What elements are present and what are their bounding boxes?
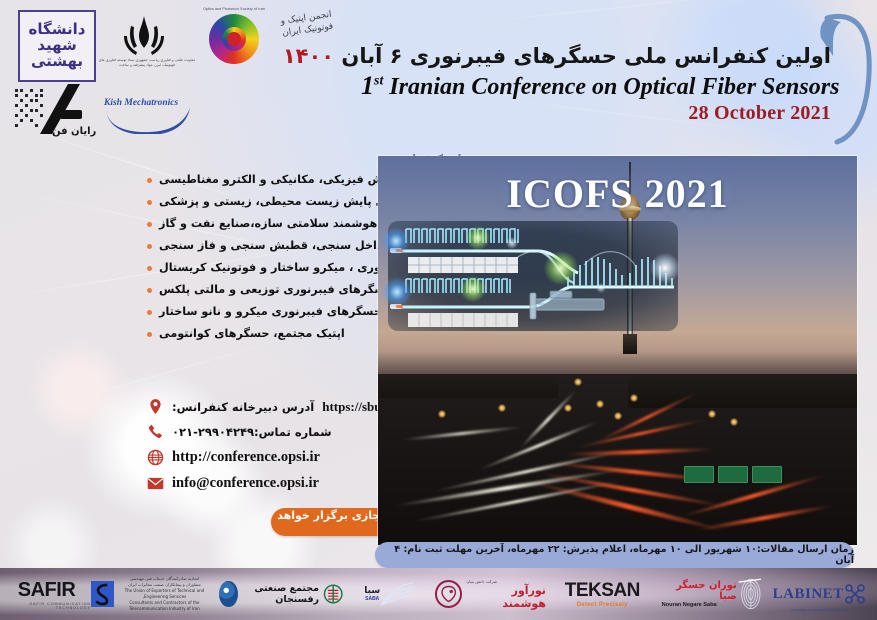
- street-lamp: [574, 378, 582, 386]
- shahid-beheshti-university-logo: دانشگاهشهیدبهشتی: [18, 10, 96, 82]
- saba-english-name: SABA: [365, 596, 379, 602]
- title-date: 28 October 2021: [361, 102, 831, 125]
- sponsor-telecom-union: اتحادیه صادرکنندگان خدمات فنی مهندسی مشا…: [114, 574, 237, 614]
- road-sign: [718, 466, 748, 483]
- conference-title-block: اولین کنفرانس ملی حسگرهای فیبرنوری ۶ آبا…: [361, 44, 831, 125]
- safir-subtitle: SAFIR COMMUNICATION TECHNOLOGY: [2, 602, 91, 610]
- bullet-icon: [147, 310, 152, 315]
- title-persian: اولین کنفرانس ملی حسگرهای فیبرنوری ۶ آبا…: [361, 44, 831, 69]
- title-ordinal-number: 1: [361, 71, 374, 100]
- conference-poster: دانشگاهشهیدبهشتی معاونت علمی و فناوری ری…: [0, 0, 877, 620]
- road-sign: [752, 466, 782, 483]
- sponsor-safir: SAFIR SAFIR COMMUNICATION TECHNOLOGY: [0, 574, 114, 614]
- teksan-wordmark: TEKSAN: [565, 580, 640, 602]
- title-ordinal: 1st: [361, 71, 383, 100]
- hillside: [378, 374, 558, 398]
- phone-icon: [147, 423, 164, 440]
- envelope-icon: [147, 475, 164, 492]
- title-persian-year: ۱۴۰۰: [283, 44, 334, 68]
- safir-mark-icon: [91, 581, 114, 607]
- bullet-icon: [147, 332, 152, 337]
- street-lamp: [630, 394, 638, 402]
- title-english-line: 1st Iranian Conference on Optical Fiber …: [361, 71, 831, 101]
- address-label: آدرس دبیرخانه کنفرانس:: [172, 400, 314, 414]
- street-lamp: [730, 418, 738, 426]
- title-persian-text: اولین کنفرانس ملی حسگرهای فیبرنوری ۶ آبا…: [341, 44, 831, 68]
- light-trail-red: [564, 447, 714, 456]
- bullet-icon: [147, 178, 152, 183]
- important-dates-banner: زمان ارسال مقالات:۱۰ شهریور الی ۱۰ مهرما…: [375, 542, 854, 568]
- sbu-calligraphy-text: دانشگاهشهیدبهشتی: [29, 22, 86, 69]
- kish-swoosh-icon: [102, 106, 194, 134]
- bullet-icon: [147, 200, 152, 205]
- bullet-icon: [147, 266, 152, 271]
- street-lamp: [708, 410, 716, 418]
- bullet-icon: [147, 244, 152, 249]
- nouran-english-name: Nouran Negare Saba: [662, 602, 717, 608]
- street-lamp: [564, 404, 572, 412]
- sponsor-labinet: LABINET Laboratory & Industrial Sales Ne…: [764, 574, 877, 614]
- street-lamp: [498, 404, 506, 412]
- teksan-tagline: Detect Precisely: [577, 602, 628, 608]
- title-ordinal-suffix: st: [374, 74, 383, 89]
- icofs-headline: ICOFS 2021: [378, 170, 857, 217]
- nouran-persian-name: نوران حسگر صبا: [662, 580, 737, 602]
- globe-icon: [147, 449, 164, 466]
- sponsor-teksan: TEKSAN Detect Precisely: [546, 574, 659, 614]
- opsi-arc-label: Optics and Photonics Society of Iran: [203, 8, 265, 70]
- street-lamp: [614, 412, 622, 420]
- sponsor-rafsanjan-industrial-complex: مجتمع صنعتی رفسنجان: [238, 574, 344, 614]
- iran-emblem-icon: [118, 14, 170, 58]
- union-name-lines: اتحادیه صادرکنندگان خدمات فنی مهندسی مشا…: [114, 576, 214, 612]
- street-lamp: [438, 410, 446, 418]
- topic-label: اپتیک مجتمع، حسگرهای کوانتومی: [159, 327, 345, 341]
- bullet-icon: [147, 222, 152, 227]
- opsi-arc-text: Optics and Photonics Society of Iran: [203, 7, 265, 11]
- street-lamp: [596, 400, 604, 408]
- safir-wordmark: SAFIR: [18, 579, 76, 602]
- topic-label: حسگرهای فیبرنوری توزیعی و مالتی پلکس: [159, 283, 394, 297]
- sponsor-nooravar-hooshmand: شرکت دانش بنیان نورآور هوشمند: [435, 574, 546, 614]
- email-address[interactable]: info@conference.opsi.ir: [172, 475, 319, 492]
- light-trail-white: [402, 426, 522, 441]
- bullet-icon: [147, 288, 152, 293]
- saba-fan-icon: [380, 581, 414, 607]
- kish-mechatronics-logo: Kish Mechatronics: [100, 88, 196, 136]
- title-english-text: Iranian Conference on Optical Fiber Sens…: [389, 74, 839, 100]
- sponsor-saba: سبا SABA: [343, 574, 435, 614]
- tehran-highway-night-scene: [378, 374, 857, 545]
- phone-label: شماره تماس:: [254, 425, 332, 439]
- optics-photonics-society-logo: Optics and Photonics Society of Iran: [203, 8, 265, 70]
- nooravar-persian-name: نورآور هوشمند: [466, 584, 546, 610]
- iran-emblem-caption: معاونت علمی و فناوری ریاست جمهوری ستاد ت…: [98, 58, 196, 69]
- sponsor-logo-band-top: دانشگاهشهیدبهشتی معاونت علمی و فناوری ری…: [0, 0, 380, 150]
- conference-hero-photo: ICOFS 2021: [378, 156, 857, 545]
- rayan-fan-logo: رایان فن: [8, 86, 100, 140]
- saba-persian-name: سبا: [364, 586, 380, 596]
- labinet-wordmark: LABINET: [773, 586, 844, 603]
- road-sign: [684, 466, 714, 483]
- rafsanjan-mark-icon: [323, 580, 343, 608]
- nouran-spiral-icon: [737, 577, 765, 611]
- sponsor-nouran-negare-saba: نوران حسگر صبا Nouran Negare Saba: [659, 574, 765, 614]
- union-mark-icon: [219, 581, 237, 607]
- nooravar-mark-icon: [435, 580, 462, 608]
- labinet-subtitle: Laboratory & Industrial Sales Network: [790, 608, 847, 612]
- phone-value: ۲۹۹۰۴۲۴۹-۰۲۱: [172, 425, 254, 439]
- location-pin-icon: [147, 398, 164, 415]
- phone-line: شماره تماس:۲۹۹۰۴۲۴۹-۰۲۱: [172, 425, 332, 439]
- hillside: [628, 374, 857, 408]
- sponsor-logo-strip-bottom: LABINET Laboratory & Industrial Sales Ne…: [0, 568, 877, 620]
- topic-label: حسگرهای فیبرنوری میکرو و نانو ساختار: [159, 305, 382, 319]
- photonic-chip-illustration: [388, 221, 678, 331]
- rayan-fan-caption: رایان فن: [52, 126, 96, 137]
- labinet-mark-icon: [844, 583, 866, 605]
- rafsanjan-persian-name: مجتمع صنعتی رفسنجان: [238, 583, 319, 605]
- website-url[interactable]: http://conference.opsi.ir: [172, 449, 320, 466]
